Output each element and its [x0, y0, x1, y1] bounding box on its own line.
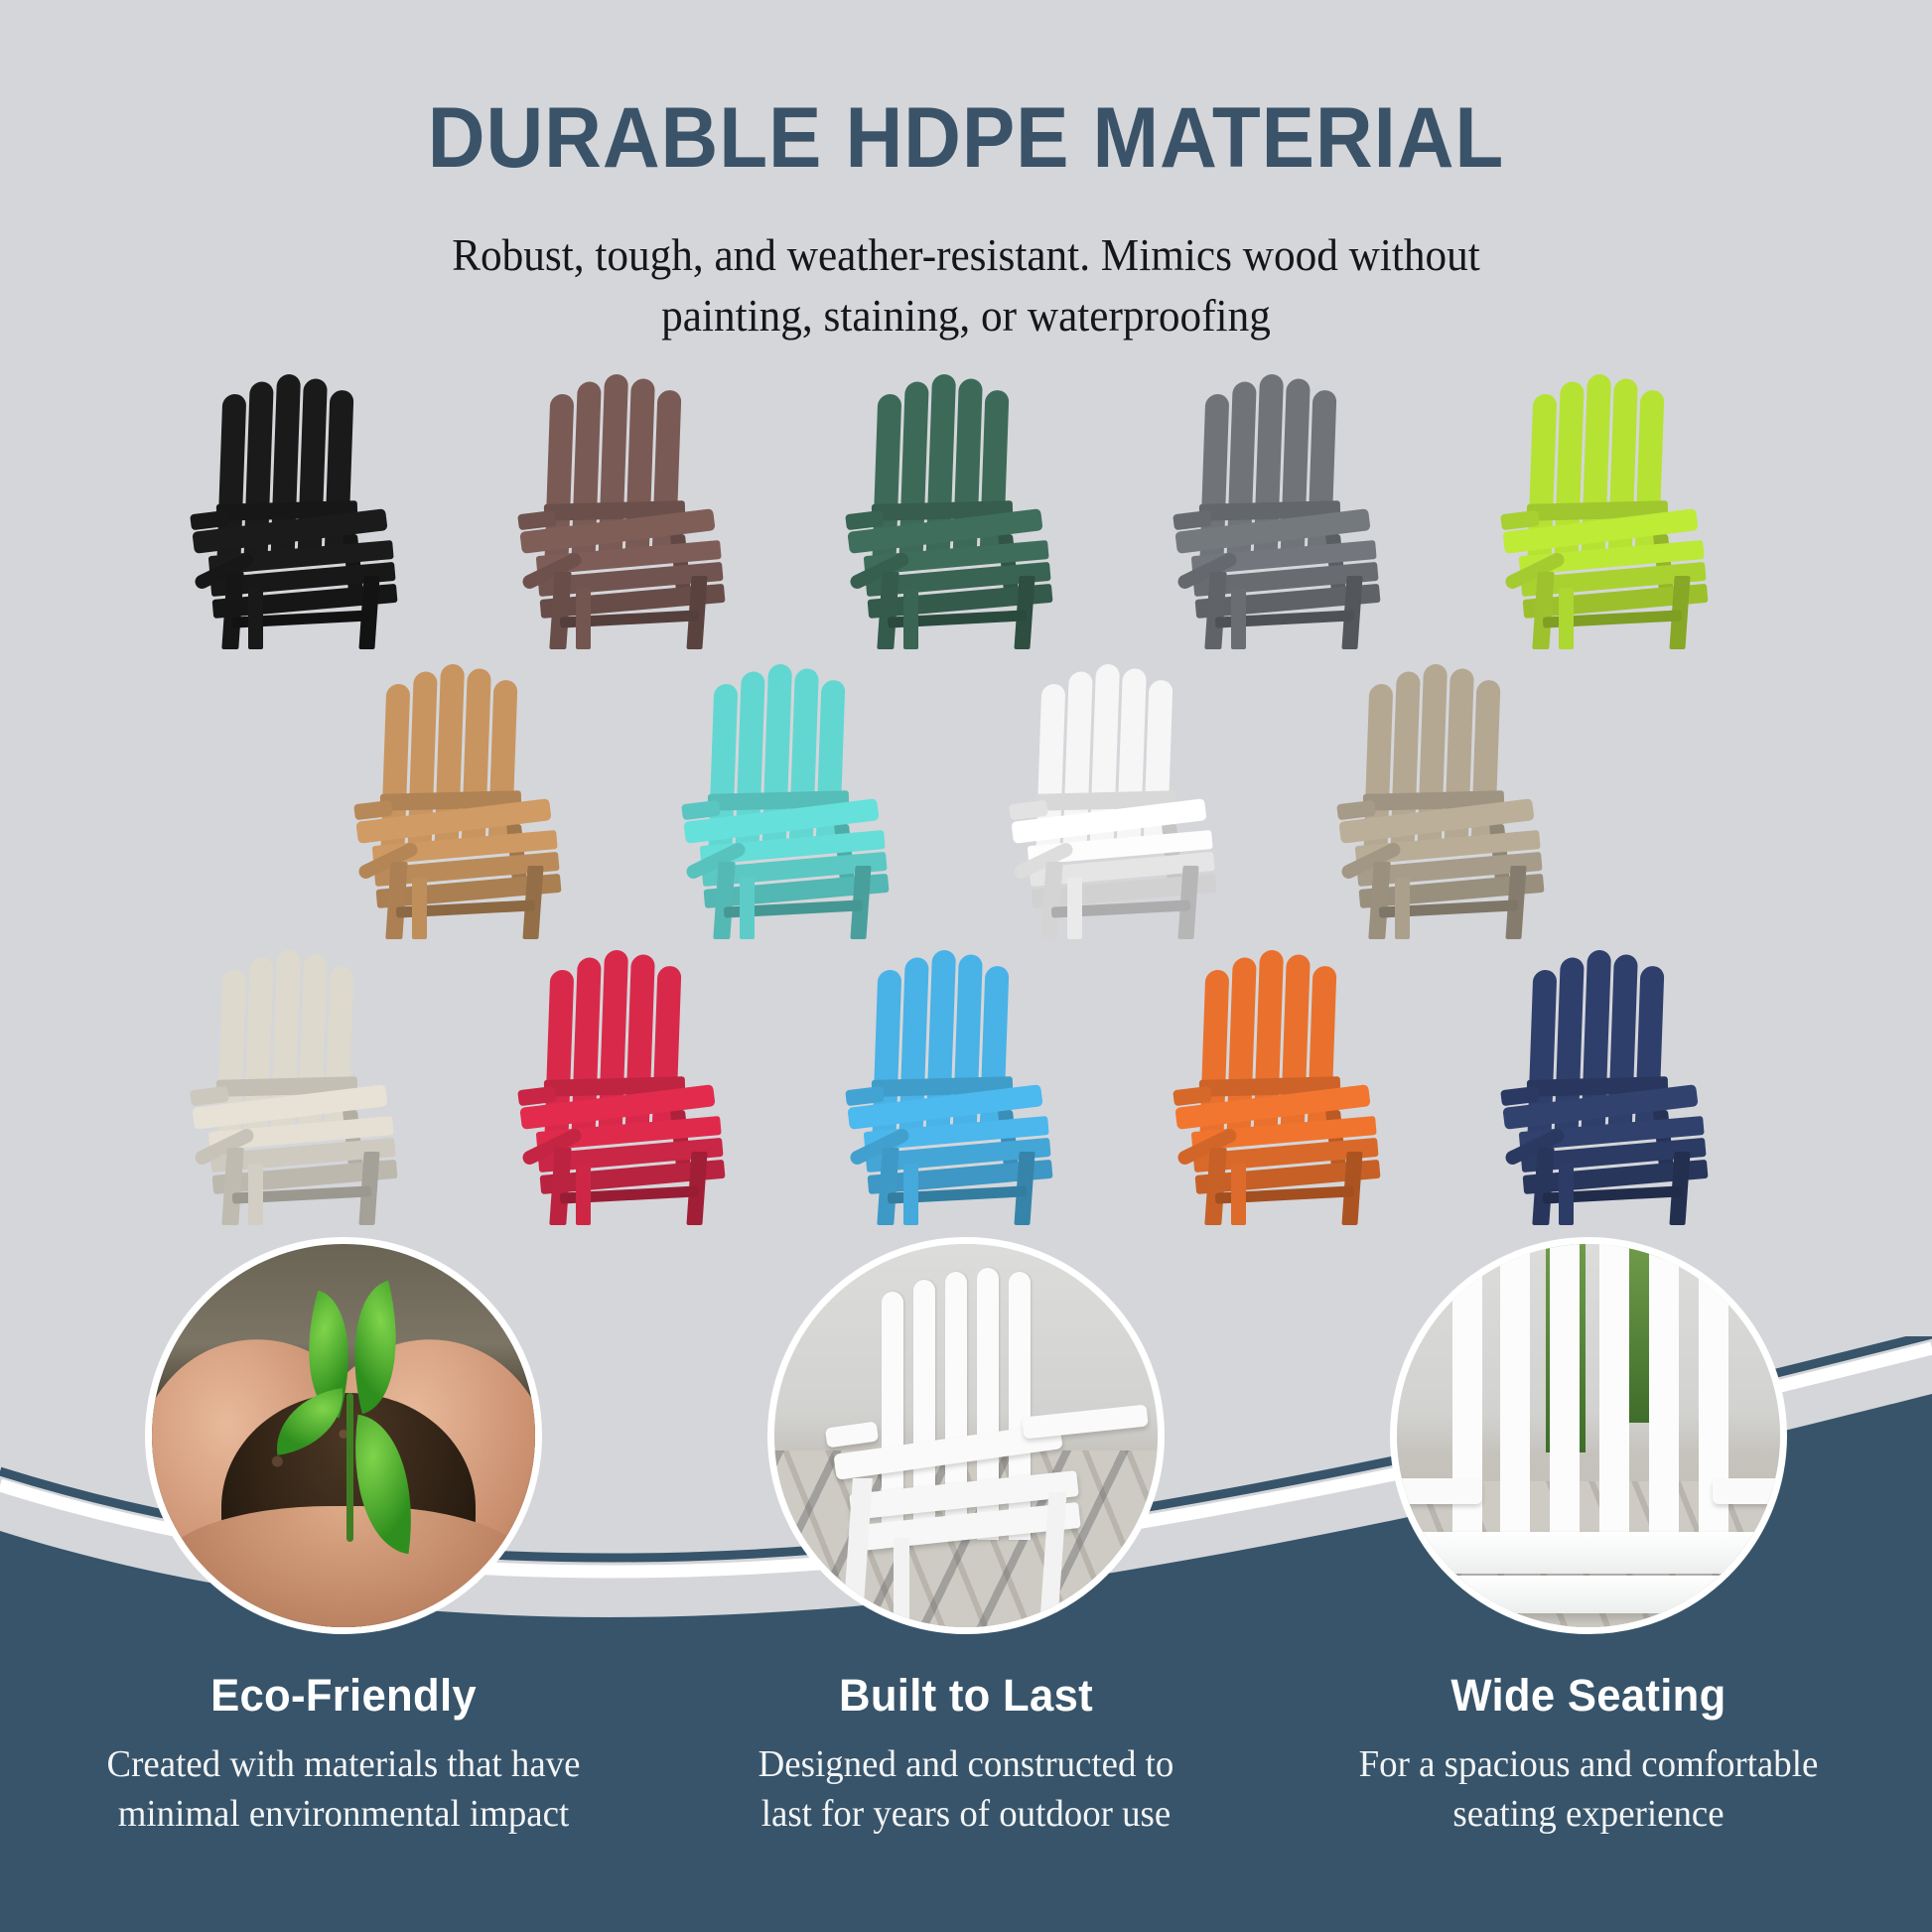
- feature-title: Built to Last: [677, 1670, 1255, 1722]
- chair-swatch[interactable]: [475, 357, 802, 655]
- chair-swatch[interactable]: [802, 357, 1130, 655]
- chair-armrest: [1713, 1478, 1787, 1504]
- plant-stem: [346, 1393, 353, 1542]
- page-subtitle: Robust, tough, and weather-resistant. Mi…: [415, 224, 1516, 345]
- chair-swatch[interactable]: [1294, 647, 1621, 945]
- chair-back-slat: [1599, 1237, 1629, 1568]
- feature-description-line-1: Created with materials that have: [71, 1739, 615, 1789]
- feature-title: Eco-Friendly: [55, 1670, 632, 1722]
- chair-leg: [248, 588, 263, 649]
- chair-leg: [1231, 1164, 1246, 1225]
- color-swatch-grid: [0, 357, 1932, 1211]
- chair-swatch[interactable]: [1457, 357, 1785, 655]
- chair-leg: [894, 1538, 909, 1627]
- adirondack-chair-icon: [842, 363, 1090, 651]
- adirondack-chair-icon: [1170, 363, 1418, 651]
- chair-back-slat: [1649, 1237, 1679, 1570]
- feature-image-wide-seating: [1390, 1237, 1787, 1634]
- chair-back-slat: [1699, 1237, 1728, 1572]
- feature-eco-friendly: Eco-Friendly Created with materials that…: [46, 1237, 641, 1839]
- chair-swatch[interactable]: [1130, 357, 1457, 655]
- feature-description-line-2: minimal environmental impact: [71, 1789, 615, 1839]
- page-title: DURABLE HDPE MATERIAL: [68, 95, 1864, 181]
- chair-swatch[interactable]: [311, 647, 638, 945]
- feature-title: Wide Seating: [1300, 1670, 1877, 1722]
- chair-leg: [1067, 878, 1082, 939]
- feature-description-line-1: For a spacious and comfortable: [1316, 1739, 1860, 1789]
- chair-seat-front: [1399, 1576, 1787, 1613]
- fingers: [162, 1506, 529, 1634]
- chair-leg: [412, 878, 427, 939]
- chair-leg: [576, 1164, 591, 1225]
- chair-swatch[interactable]: [1130, 933, 1457, 1231]
- feature-image-built-to-last: [767, 1237, 1165, 1634]
- feature-image-eco-friendly: [145, 1237, 542, 1634]
- feature-description-line-2: last for years of outdoor use: [694, 1789, 1237, 1839]
- adirondack-chair-icon: [1006, 653, 1254, 941]
- infographic-root: DURABLE HDPE MATERIAL Robust, tough, and…: [0, 0, 1932, 1932]
- feature-description: For a spacious and comfortable seating e…: [1300, 1739, 1877, 1839]
- adirondack-chair-icon: [842, 939, 1090, 1227]
- chair-leg: [1559, 1164, 1574, 1225]
- subtitle-line-2: painting, staining, or waterproofing: [415, 285, 1516, 345]
- swatch-row-1: [0, 357, 1932, 655]
- chair-swatch[interactable]: [966, 647, 1294, 945]
- adirondack-chair-icon: [514, 363, 762, 651]
- adirondack-chair-icon: [1497, 363, 1745, 651]
- adirondack-chair-icon: [187, 939, 435, 1227]
- adirondack-chair-icon: [514, 939, 762, 1227]
- adirondack-chair-icon: [678, 653, 926, 941]
- chair-leg: [1395, 878, 1410, 939]
- feature-description: Created with materials that have minimal…: [55, 1739, 632, 1839]
- adirondack-chair-icon: [1333, 653, 1582, 941]
- chair-leg: [903, 1164, 918, 1225]
- feature-description-line-1: Designed and constructed to: [694, 1739, 1237, 1789]
- chair-leg: [248, 1164, 263, 1225]
- feature-description-line-2: seating experience: [1316, 1789, 1860, 1839]
- chair-swatch[interactable]: [1457, 933, 1785, 1231]
- chair-leg: [1559, 588, 1574, 649]
- feature-list: Eco-Friendly Created with materials that…: [0, 1247, 1932, 1932]
- chair-swatch[interactable]: [475, 933, 802, 1231]
- chair-swatch[interactable]: [802, 933, 1130, 1231]
- feature-description: Designed and constructed to last for yea…: [677, 1739, 1255, 1839]
- chair-leg: [576, 588, 591, 649]
- adirondack-chair-icon: [1497, 939, 1745, 1227]
- chair-armrest: [1390, 1478, 1482, 1504]
- swatch-row-3: [0, 933, 1932, 1231]
- swatch-row-2: [0, 647, 1932, 945]
- chair-leg: [1231, 588, 1246, 649]
- chair-seat: [1407, 1532, 1784, 1574]
- chair-swatch[interactable]: [147, 933, 475, 1231]
- chair-swatch[interactable]: [147, 357, 475, 655]
- chair-leg: [740, 878, 755, 939]
- feature-built-to-last: Built to Last Designed and constructed t…: [668, 1237, 1264, 1839]
- chair-leg: [903, 588, 918, 649]
- subtitle-line-1: Robust, tough, and weather-resistant. Mi…: [415, 224, 1516, 285]
- chair-back-slat: [1452, 1237, 1482, 1572]
- feature-wide-seating: Wide Seating For a spacious and comforta…: [1291, 1237, 1886, 1839]
- chair-back-slat: [1550, 1237, 1580, 1568]
- chair-swatch[interactable]: [638, 647, 966, 945]
- header: DURABLE HDPE MATERIAL Robust, tough, and…: [0, 95, 1932, 345]
- adirondack-chair-icon: [1170, 939, 1418, 1227]
- adirondack-chair-icon: [350, 653, 599, 941]
- adirondack-chair-icon: [187, 363, 435, 651]
- chair-back-slat: [1500, 1237, 1530, 1570]
